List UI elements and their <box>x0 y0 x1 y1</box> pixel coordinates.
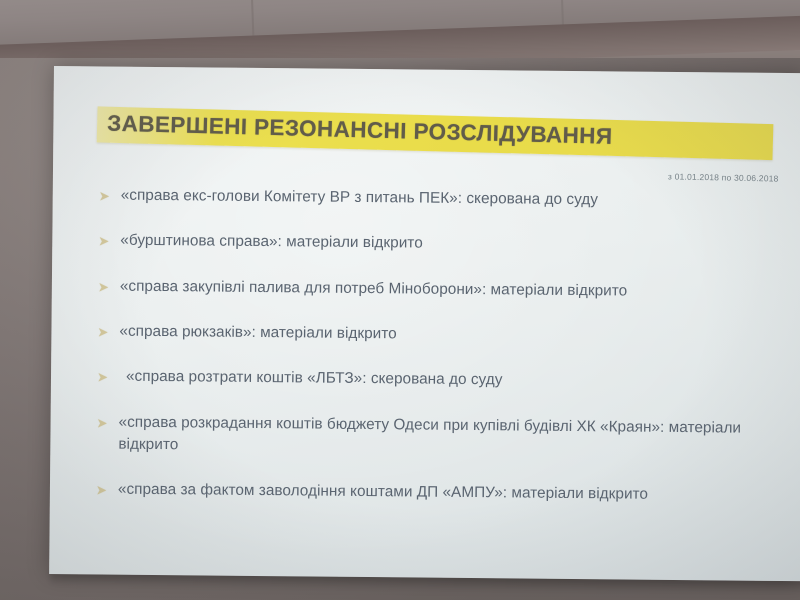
list-item-label: «справа за фактом заволодіння коштами ДП… <box>118 479 768 508</box>
arrow-bullet-icon: ➤ <box>97 416 119 429</box>
list-item-label: «бурштинова справа»: матеріали відкрито <box>120 230 770 259</box>
arrow-bullet-icon: ➤ <box>96 484 118 497</box>
list-item-label: «справа рюкзаків»: матеріали відкрито <box>119 321 769 350</box>
list-item: ➤ «справа розтрати коштів «ЛБТЗ»: скеров… <box>97 366 769 395</box>
arrow-bullet-icon: ➤ <box>99 189 121 202</box>
list-item: ➤ «справа за фактом заволодіння коштами … <box>96 479 768 508</box>
list-item-label: «справа закупівлі палива для потреб Міно… <box>120 275 770 304</box>
list-item: ➤ «справа рюкзаків»: матеріали відкрито <box>97 320 769 349</box>
arrow-bullet-icon: ➤ <box>98 280 120 293</box>
arrow-bullet-icon: ➤ <box>97 371 119 384</box>
bullet-list: ➤ «справа екс-голови Комітету ВР з питан… <box>96 184 771 530</box>
list-item: ➤ «бурштинова справа»: матеріали відкрит… <box>98 230 770 259</box>
list-item: ➤ «справа закупівлі палива для потреб Мі… <box>98 275 770 304</box>
list-item-label: «справа розкрадання коштів бюджету Одеси… <box>118 411 768 462</box>
arrow-bullet-icon: ➤ <box>97 325 119 338</box>
list-item: ➤ «справа розкрадання коштів бюджету Оде… <box>96 411 768 462</box>
projection-screen: ЗАВЕРШЕНІ РЕЗОНАНСНІ РОЗСЛІДУВАННЯ з 01.… <box>49 66 800 581</box>
arrow-bullet-icon: ➤ <box>98 235 120 248</box>
projected-slide-photo: ЗАВЕРШЕНІ РЕЗОНАНСНІ РОЗСЛІДУВАННЯ з 01.… <box>0 0 800 600</box>
list-item-label: «справа розтрати коштів «ЛБТЗ»: скерован… <box>119 366 769 395</box>
